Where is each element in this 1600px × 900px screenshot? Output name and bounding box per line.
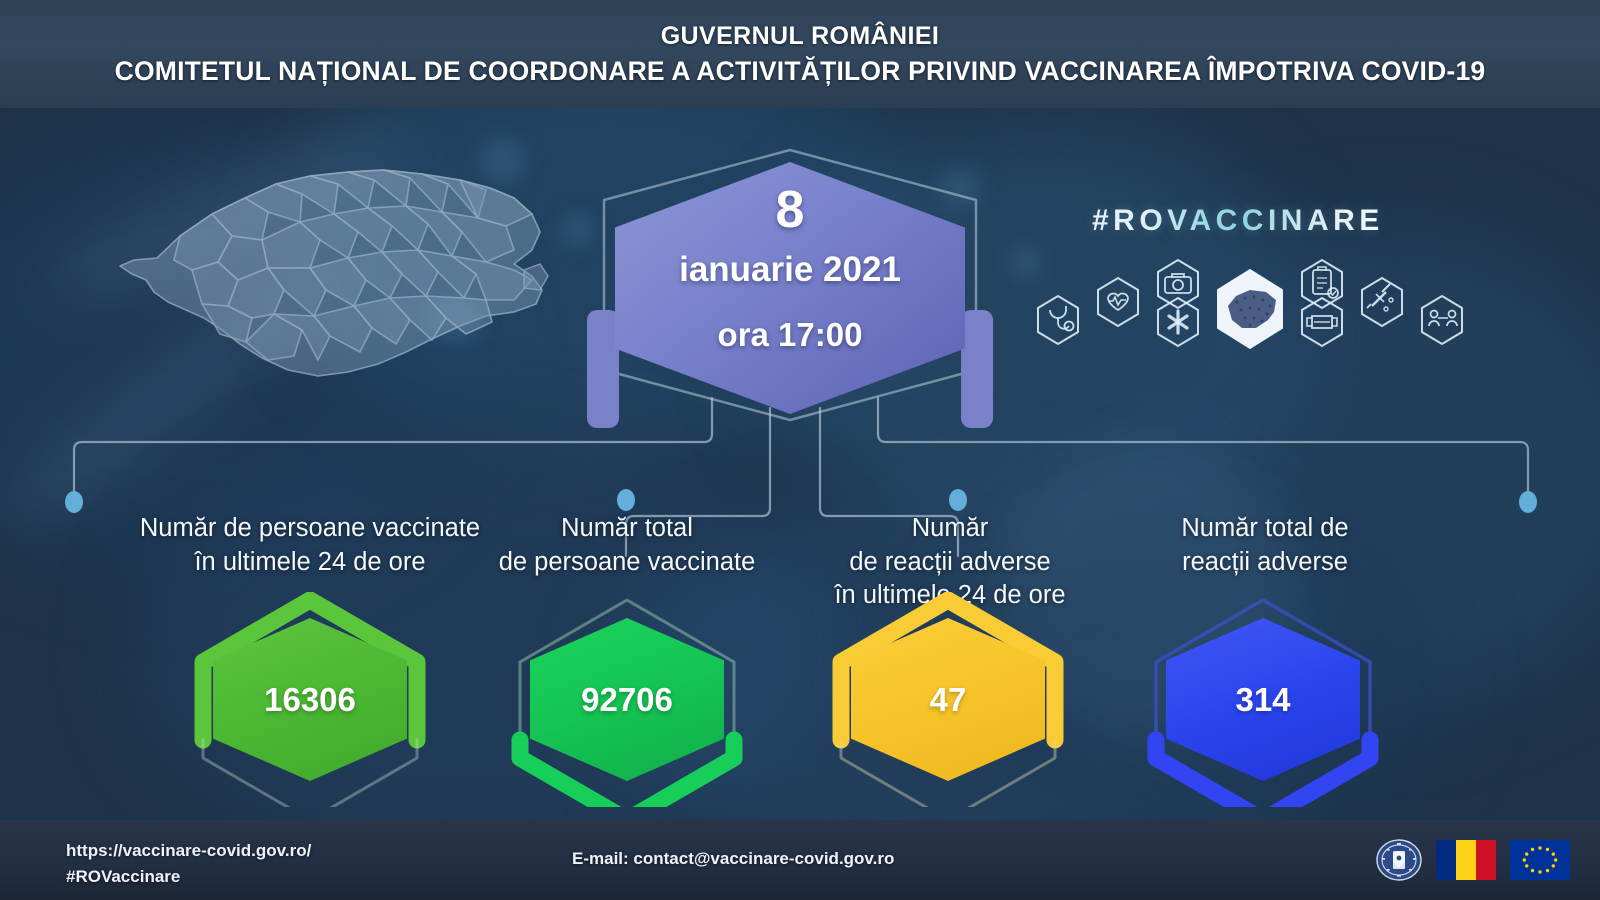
stat-card-adverse-24h: 47 [818,592,1078,807]
star-of-life-icon [1158,298,1198,346]
heart-ecg-icon [1098,278,1138,326]
rovaccinare-hashtag: #ROVACCINARE [1092,204,1384,238]
date-month-year: ianuarie 2021 [679,250,901,290]
date-time: ora 17:00 [718,316,863,354]
footer-email-link[interactable]: E-mail: contact@vaccinare-covid.gov.ro [572,849,894,869]
stat-value: 92706 [581,681,673,719]
footer: https://vaccinare-covid.gov.ro/ #ROVacci… [0,820,1600,900]
date-card-arm-right [961,310,993,428]
stat-label-vaccinated-total: Număr total de persoane vaccinate [462,512,792,579]
date-day: 8 [776,184,805,236]
header-committee-title: COMITETUL NAȚIONAL DE COORDONARE A ACTIV… [115,56,1486,86]
romania-map-icon [1218,270,1282,348]
stat-value: 16306 [264,681,356,719]
medical-bag-icon [1158,260,1198,308]
clipboard-check-icon [1302,260,1342,308]
romania-counties-map [62,140,552,410]
stat-value: 314 [1235,681,1290,719]
footer-website-link[interactable]: https://vaccinare-covid.gov.ro/ #ROVacci… [66,838,311,889]
government-of-romania-seal [1376,839,1422,881]
date-card: 8 ianuarie 2021 ora 17:00 [575,140,1005,430]
rovaccinare-icon-cluster [1000,248,1520,363]
stethoscope-icon [1038,296,1078,344]
header: GUVERNUL ROMÂNIEI COMITETUL NAȚIONAL DE … [0,0,1600,108]
infographic-page: 8 ianuarie 2021 ora 17:00 #ROVACCINARE [0,0,1600,900]
stat-card-vaccinated-total: 92706 [497,592,757,807]
european-union-flag [1510,840,1570,880]
rovaccinare-logo: #ROVACCINARE [1000,198,1520,363]
stat-card-adverse-total: 314 [1133,592,1393,807]
face-mask-icon [1302,298,1342,346]
header-government-title: GUVERNUL ROMÂNIEI [661,22,940,51]
stat-label-adverse-total: Număr total de reacții adverse [1115,512,1415,579]
stat-card-vaccinated-24h: 16306 [180,592,440,807]
stat-value: 47 [930,681,967,719]
romania-flag [1436,840,1496,880]
footer-emblems [1376,839,1570,881]
vaccine-syringe-icon [1362,278,1402,326]
people-network-icon [1422,296,1462,344]
date-card-arm-left [587,310,619,428]
